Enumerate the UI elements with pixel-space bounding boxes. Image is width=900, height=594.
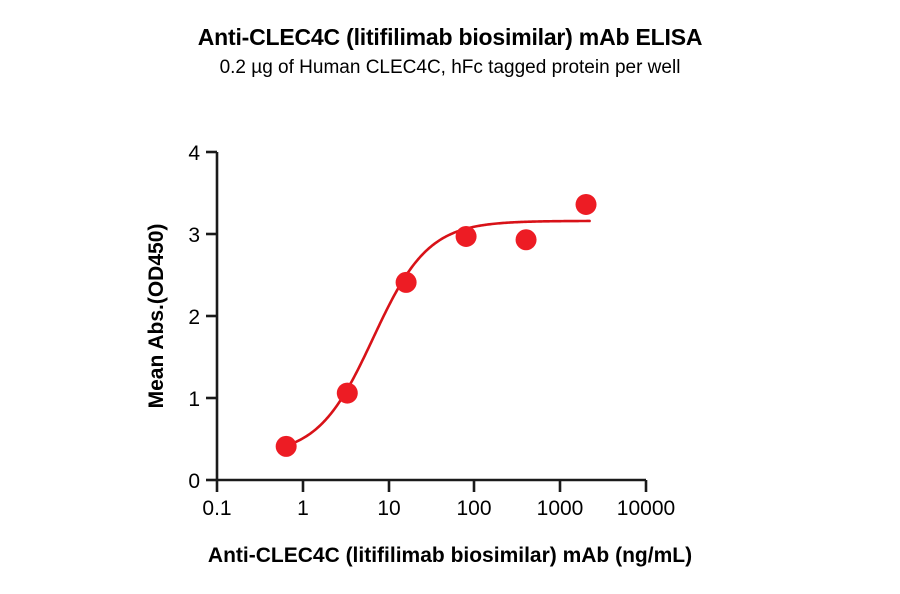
y-tick-label-2: 2 <box>188 306 200 329</box>
y-tick-label-3: 3 <box>188 224 200 247</box>
data-point <box>576 194 597 215</box>
x-tick-label-0: 0.1 <box>202 497 231 520</box>
x-tick-label-5: 10000 <box>617 497 675 520</box>
data-point <box>516 229 537 250</box>
y-tick-label-1: 1 <box>188 388 200 411</box>
fit-curve <box>285 221 590 446</box>
plot-area: 0 1 2 3 4 0.1 1 10 100 1000 10000 Mean A… <box>0 0 900 594</box>
x-tick-label-2: 10 <box>377 497 400 520</box>
data-point <box>456 226 477 247</box>
data-point <box>276 436 297 457</box>
y-axis-ticks <box>206 152 217 480</box>
data-point <box>337 383 358 404</box>
y-tick-label-0: 0 <box>188 470 200 493</box>
x-axis-title: Anti-CLEC4C (litifilimab biosimilar) mAb… <box>0 544 900 568</box>
y-axis-title: Mean Abs.(OD450) <box>145 224 168 409</box>
elisa-figure: Anti-CLEC4C (litifilimab biosimilar) mAb… <box>0 0 900 594</box>
x-axis-ticks <box>217 480 646 492</box>
data-point <box>396 272 417 293</box>
x-tick-label-4: 1000 <box>537 497 584 520</box>
y-tick-label-4: 4 <box>188 142 200 165</box>
data-point-group <box>276 194 597 457</box>
x-tick-label-3: 100 <box>456 497 491 520</box>
x-tick-label-1: 1 <box>297 497 309 520</box>
